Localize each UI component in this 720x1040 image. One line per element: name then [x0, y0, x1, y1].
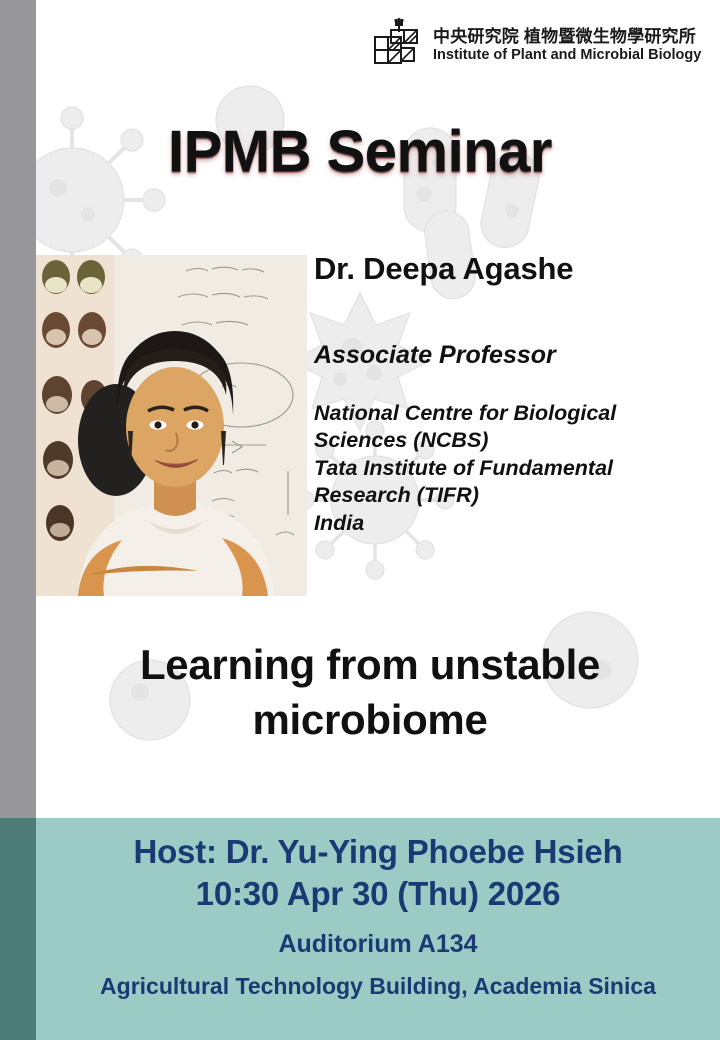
talk-title-line: microbiome	[50, 693, 690, 748]
host-line: Host: Dr. Yu-Ying Phoebe Hsieh	[36, 832, 720, 872]
speaker-photo	[36, 255, 307, 596]
event-details-footer: Host: Dr. Yu-Ying Phoebe Hsieh 10:30 Apr…	[36, 818, 720, 1040]
institute-name-zh: 中央研究院 植物暨微生物學研究所	[433, 27, 701, 47]
affiliation-line: India	[314, 510, 714, 538]
seminar-poster: 中央研究院 植物暨微生物學研究所 Institute of Plant and …	[0, 0, 720, 1040]
left-sidebar-teal	[0, 818, 36, 1040]
datetime-line: 10:30 Apr 30 (Thu) 2026	[36, 874, 720, 914]
speaker-name: Dr. Deepa Agashe	[314, 252, 714, 286]
ipmb-logo-icon	[370, 18, 424, 73]
affiliation-line: Research (TIFR)	[314, 482, 714, 510]
affiliation-line: Tata Institute of Fundamental	[314, 455, 714, 483]
talk-title-line: Learning from unstable	[50, 638, 690, 693]
building-line: Agricultural Technology Building, Academ…	[36, 973, 720, 1001]
affiliation-line: Sciences (NCBS)	[314, 427, 714, 455]
institute-header: 中央研究院 植物暨微生物學研究所 Institute of Plant and …	[370, 18, 700, 73]
speaker-rank: Associate Professor	[314, 342, 714, 370]
seminar-title: IPMB Seminar	[0, 118, 720, 185]
speaker-affiliation: National Centre for Biological Sciences …	[314, 400, 714, 538]
speaker-info: Dr. Deepa Agashe Associate Professor Nat…	[314, 252, 714, 537]
talk-title: Learning from unstable microbiome	[50, 638, 690, 747]
institute-name-en: Institute of Plant and Microbial Biology	[433, 47, 701, 64]
room-line: Auditorium A134	[36, 929, 720, 959]
affiliation-line: National Centre for Biological	[314, 400, 714, 428]
